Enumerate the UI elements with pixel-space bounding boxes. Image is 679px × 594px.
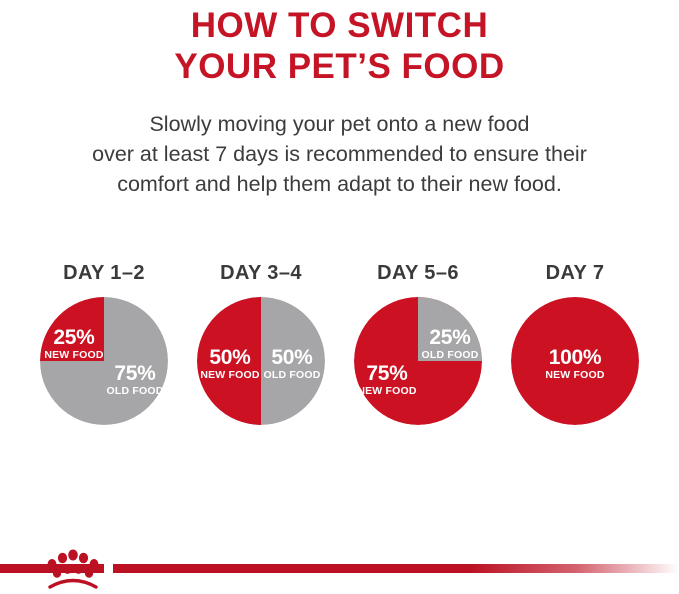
slice-new-food-4 [511,297,639,425]
pie-svg-3 [354,297,482,425]
infographic-page: { "title": { "line1": "HOW TO SWITCH", "… [0,0,679,594]
intro-line-3: comfort and help them adapt to their new… [0,169,679,199]
slice-old-food-3 [418,297,482,361]
day-label-2: DAY 3–4 [220,262,302,285]
day-label-4: DAY 7 [546,262,605,285]
royal-canin-crown-icon [40,544,106,590]
pie-chart-day-3-4: DAY 3–4 50% NEW FOOD 50% OLD FOOD [191,262,331,425]
slice-new-food-1 [40,297,104,361]
title-line-2: YOUR PET’S FOOD [0,46,679,87]
day-label-1: DAY 1–2 [63,262,145,285]
pie-chart-day-7: DAY 7 100% NEW FOOD [505,262,645,425]
footer [0,542,679,594]
pie-svg-2 [197,297,325,425]
pie-graphic-1: 25% NEW FOOD 75% OLD FOOD [40,297,168,425]
intro-line-1: Slowly moving your pet onto a new food [0,109,679,139]
pie-graphic-4: 100% NEW FOOD [511,297,639,425]
intro-line-2: over at least 7 days is recommended to e… [0,139,679,169]
pie-chart-day-5-6: DAY 5–6 25% OLD FOOD 75% NEW FOOD [348,262,488,425]
pie-svg-4 [511,297,639,425]
pie-graphic-2: 50% NEW FOOD 50% OLD FOOD [197,297,325,425]
pie-graphic-3: 25% OLD FOOD 75% NEW FOOD [354,297,482,425]
pie-chart-day-1-2: DAY 1–2 25% NEW FOOD 75% OLD FOOD [34,262,174,425]
slice-new-food-2 [197,297,261,425]
pie-chart-row: DAY 1–2 25% NEW FOOD 75% OLD FOOD DAY 3–… [0,262,679,425]
footer-band-right [113,564,679,573]
pie-svg-1 [40,297,168,425]
intro-paragraph: Slowly moving your pet onto a new food o… [0,109,679,199]
page-title: HOW TO SWITCH YOUR PET’S FOOD [0,0,679,87]
title-line-1: HOW TO SWITCH [0,5,679,46]
day-label-3: DAY 5–6 [377,262,459,285]
